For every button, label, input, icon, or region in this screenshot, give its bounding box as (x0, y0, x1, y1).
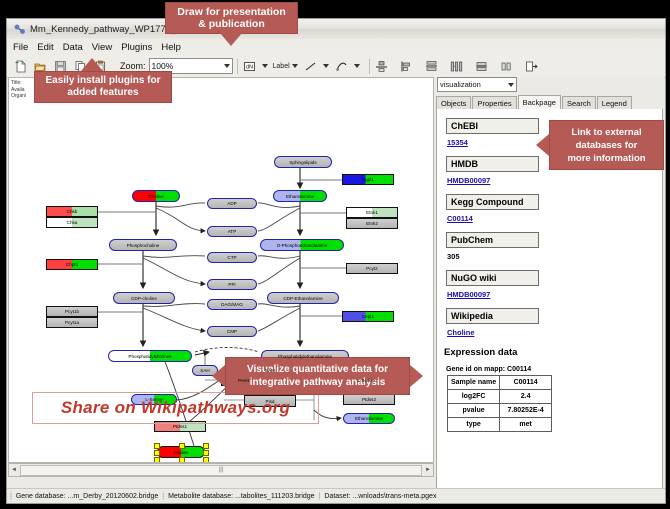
table-cell-key: log2FC (448, 390, 500, 404)
node-label: Phosphatidylcholines (128, 354, 171, 359)
screenshot-root: Mm_Kennedy_pathway_WP1771_45176.gpml Fil… (0, 0, 670, 509)
node-sgpl1[interactable]: Sgpl1 (342, 174, 394, 185)
status-divider: | (319, 493, 321, 500)
node-phosphatidylcholines[interactable]: Phosphatidylcholines (108, 350, 192, 362)
kegg-link[interactable]: C00114 (447, 214, 662, 223)
node-label: Pemt (238, 378, 249, 383)
callout-link-line3: more information (567, 152, 645, 165)
callout-visualize-arrow-right-icon (410, 365, 423, 387)
status-dataset: Dataset: ...wnloads\trans-meta.pgex (324, 493, 436, 500)
section-header-chebi: ChEBI (446, 118, 539, 134)
callout-link-line2: databases for (576, 139, 638, 152)
callout-plugins-line2: added features (67, 87, 138, 99)
tab-objects[interactable]: Objects (436, 96, 471, 109)
toolbar-separator-2 (369, 59, 370, 74)
scroll-thumb[interactable]: ||| (20, 465, 422, 476)
node-o-phosphoethanolamine[interactable]: O-Phosphoethanolamine (260, 239, 344, 251)
node-label: Sgpl1 (362, 177, 374, 182)
node-label: Pisd (266, 399, 275, 404)
node-label: Ethanolamine (286, 194, 314, 199)
canvas-horizontal-scrollbar[interactable]: ◄ ||| ► (8, 463, 434, 477)
status-divider: | (162, 493, 164, 500)
line-dropdown[interactable] (303, 58, 329, 74)
tab-properties[interactable]: Properties (472, 96, 516, 109)
node-label: Choline (173, 450, 189, 455)
node-label: Phosphocholine (127, 243, 160, 248)
interaction-dropdown[interactable] (334, 58, 360, 74)
common-width-icon[interactable] (474, 58, 490, 74)
node-label: L-Serine (145, 397, 162, 402)
zoom-label: Zoom: (120, 61, 146, 71)
node-chka[interactable]: Chka (46, 217, 98, 228)
side-panel-tabs: Objects Properties Backpage Search Legen… (436, 95, 662, 110)
node-label: Ethanolamine (355, 416, 383, 421)
section-header-nugo-wiki: NuGO wiki (446, 270, 539, 286)
nugo-link[interactable]: HMDB00097 (447, 290, 662, 299)
node-chkb[interactable]: Chkb (46, 206, 98, 217)
tab-search[interactable]: Search (562, 96, 596, 109)
status-metabolite-database: Metabolite database: ...tabolites_111203… (168, 493, 314, 500)
share-callout: Share on Wikipathways.org (32, 392, 319, 424)
table-cell-key: type (448, 418, 500, 432)
chevron-down-icon (224, 64, 230, 68)
pubchem-value: 305 (447, 252, 662, 261)
node-label: Etnk2 (366, 221, 378, 226)
align-left-icon[interactable] (399, 58, 415, 74)
callout-visualize: Visualize quantitative data for integrat… (225, 357, 410, 395)
zoom-value: 100% (152, 61, 174, 71)
selection-handle-n[interactable] (179, 443, 185, 449)
title-bar: Mm_Kennedy_pathway_WP1771_45176.gpml (7, 19, 665, 40)
node-phosphocholine[interactable]: Phosphocholine (109, 239, 177, 251)
node-label: L-Serine (357, 378, 374, 383)
node-cept1[interactable]: Cept1 (342, 311, 394, 322)
chevron-down-icon (292, 64, 298, 68)
align-center-icon[interactable] (374, 58, 390, 74)
pathway-canvas[interactable]: Title: Availa Organi (8, 77, 434, 463)
common-height-icon[interactable] (499, 58, 515, 74)
menu-item-help[interactable]: Help (161, 42, 181, 53)
table-cell-value: 7.80252E-4 (500, 404, 552, 418)
visualization-value: visualization (440, 80, 481, 89)
label-dropdown[interactable]: Label (273, 63, 298, 70)
table-row: log2FC 2.4 (448, 390, 552, 404)
table-row: Sample name C00114 (448, 376, 552, 390)
callout-visualize-arrow-left-icon (212, 365, 225, 387)
node-etnk1[interactable]: Etnk1 (346, 207, 398, 218)
menu-item-file[interactable]: File (13, 42, 28, 53)
menu-item-data[interactable]: Data (63, 42, 83, 53)
menu-bar: File Edit Data View Plugins Help (7, 39, 666, 56)
node-label: PPi (228, 282, 235, 287)
node-label: Chpt1 (66, 262, 78, 267)
callout-link: Link to external databases for more info… (549, 120, 664, 170)
node-label: CDP-Ethanolamine (283, 296, 322, 301)
callout-link-line1: Link to external (571, 126, 641, 139)
scroll-left-icon[interactable]: ◄ (9, 467, 19, 473)
datanode-icon: dN (242, 58, 258, 74)
callout-draw-line1: Draw for presentation (177, 6, 286, 18)
table-cell-value: met (500, 418, 552, 432)
callout-draw-line2: & publication (198, 18, 265, 30)
table-cell-value: 2.4 (500, 390, 552, 404)
callout-plugins-line1: Easily install plugins for (45, 75, 160, 87)
visualization-combobox[interactable]: visualization (437, 77, 517, 92)
node-label: ATP (228, 229, 237, 234)
node-label: Chkb (67, 209, 78, 214)
selection-handle-e[interactable] (203, 450, 209, 456)
section-header-kegg-compound: Kegg Compound (446, 194, 539, 210)
node-label: CMP (227, 329, 237, 334)
table-row: pvalue 7.80252E-4 (448, 404, 552, 418)
node-label: SAM (265, 368, 275, 373)
interaction-icon (334, 58, 350, 74)
node-label: Cept1 (362, 314, 374, 319)
callout-plugins: Easily install plugins for added feature… (34, 71, 172, 103)
node-label: Ptdss1 (173, 424, 187, 429)
new-file-icon[interactable] (12, 58, 28, 74)
node-adp[interactable]: ADP (207, 198, 257, 209)
node-etnk2[interactable]: Etnk2 (346, 218, 398, 229)
callout-draw-arrow-icon (220, 33, 242, 46)
callout-plugins-arrow-icon (81, 58, 103, 71)
node-label: DAG/MAG (221, 302, 243, 307)
node-label: SAH (200, 368, 209, 373)
node-atp[interactable]: ATP (207, 226, 257, 237)
node-label: CDP-choline (131, 296, 157, 301)
chevron-down-icon (323, 64, 329, 68)
table-row: type met (448, 418, 552, 432)
table-cell-key: Sample name (448, 376, 500, 390)
node-label: O-Phosphoethanolamine (277, 243, 328, 248)
wikipedia-link[interactable]: Choline (447, 328, 662, 337)
section-header-wikipedia: Wikipedia (446, 308, 539, 324)
menu-item-view[interactable]: View (92, 42, 112, 53)
node-dagmag[interactable]: DAG/MAG (207, 299, 257, 310)
toolbar-separator (237, 59, 238, 74)
node-sphingolipids[interactable]: Sphingolipids (274, 156, 332, 168)
tab-backpage[interactable]: Backpage (518, 95, 561, 109)
chevron-down-icon (354, 64, 360, 68)
node-choline-top[interactable]: Choline (132, 190, 180, 202)
node-label: Choline (148, 194, 164, 199)
stack-vertical-icon[interactable] (424, 58, 440, 74)
table-cell-value: C00114 (500, 376, 552, 390)
selection-handle-w[interactable] (154, 450, 160, 456)
export-icon[interactable] (524, 58, 540, 74)
node-pcyt1a[interactable]: Pcyt1a (46, 317, 98, 328)
scroll-right-icon[interactable]: ► (423, 467, 433, 473)
status-bar: | Gene database: ...m_Derby_20120602.bri… (7, 488, 666, 503)
section-header-hmdb: HMDB (446, 156, 539, 172)
app-icon (13, 23, 26, 36)
callout-draw: Draw for presentation & publication (165, 2, 298, 34)
selection-handle-nw[interactable] (154, 443, 160, 449)
menu-item-plugins[interactable]: Plugins (121, 42, 152, 53)
svg-text:dN: dN (246, 64, 253, 70)
node-pcyt2[interactable]: Pcyt2 (346, 263, 398, 274)
node-label: Phosphatidylethanolamine (278, 354, 332, 359)
node-cdp-ethanolamine[interactable]: CDP-Ethanolamine (267, 292, 339, 304)
callout-link-arrow-icon (536, 134, 549, 156)
node-ctp[interactable]: CTP (207, 252, 257, 263)
node-ethanolamine-bottom[interactable]: Ethanolamine (343, 413, 395, 424)
chevron-down-icon (262, 64, 268, 68)
node-label: Pcyt1b (65, 309, 79, 314)
status-divider: | (10, 493, 12, 500)
table-cell-key: pvalue (448, 404, 500, 418)
node-label: Chka (67, 220, 78, 225)
expression-table: Sample name C00114 log2FC 2.4 pvalue 7.8… (447, 375, 552, 432)
node-cmp[interactable]: CMP (207, 326, 257, 337)
node-label: Sphingolipids (289, 160, 316, 165)
menu-item-edit[interactable]: Edit (37, 42, 53, 53)
distribute-horizontal-icon[interactable] (449, 58, 465, 74)
node-label: Etnk1 (366, 210, 378, 215)
status-gene-database: Gene database: ...m_Derby_20120602.bridg… (16, 493, 158, 500)
node-ppi[interactable]: PPi (207, 279, 257, 290)
gene-id-line: Gene id on mapp: C00114 (446, 366, 662, 373)
tab-legend[interactable]: Legend (597, 96, 632, 109)
node-ptdss2[interactable]: Ptdss2 (343, 394, 395, 405)
node-label: Pcyt1a (65, 320, 79, 325)
node-label: ADP (227, 201, 236, 206)
node-cdp-choline[interactable]: CDP-choline (113, 292, 175, 304)
node-label: Ptdss2 (362, 397, 376, 402)
chevron-down-icon (508, 83, 514, 87)
section-header-pubchem: PubChem (446, 232, 539, 248)
node-chpt1[interactable]: Chpt1 (46, 259, 98, 270)
expression-data-heading: Expression data (444, 347, 662, 358)
node-ethanolamine-top[interactable]: Ethanolamine (273, 190, 327, 202)
hmdb-link[interactable]: HMDB00097 (447, 176, 662, 185)
line-icon (303, 58, 319, 74)
label-dropdown-label: Label (273, 63, 290, 70)
datanode-dropdown[interactable]: dN (242, 58, 268, 74)
node-pcyt1b[interactable]: Pcyt1b (46, 306, 98, 317)
node-label: Pcyt2 (366, 266, 378, 271)
selection-handle-ne[interactable] (203, 443, 209, 449)
node-label: CTP (227, 255, 236, 260)
